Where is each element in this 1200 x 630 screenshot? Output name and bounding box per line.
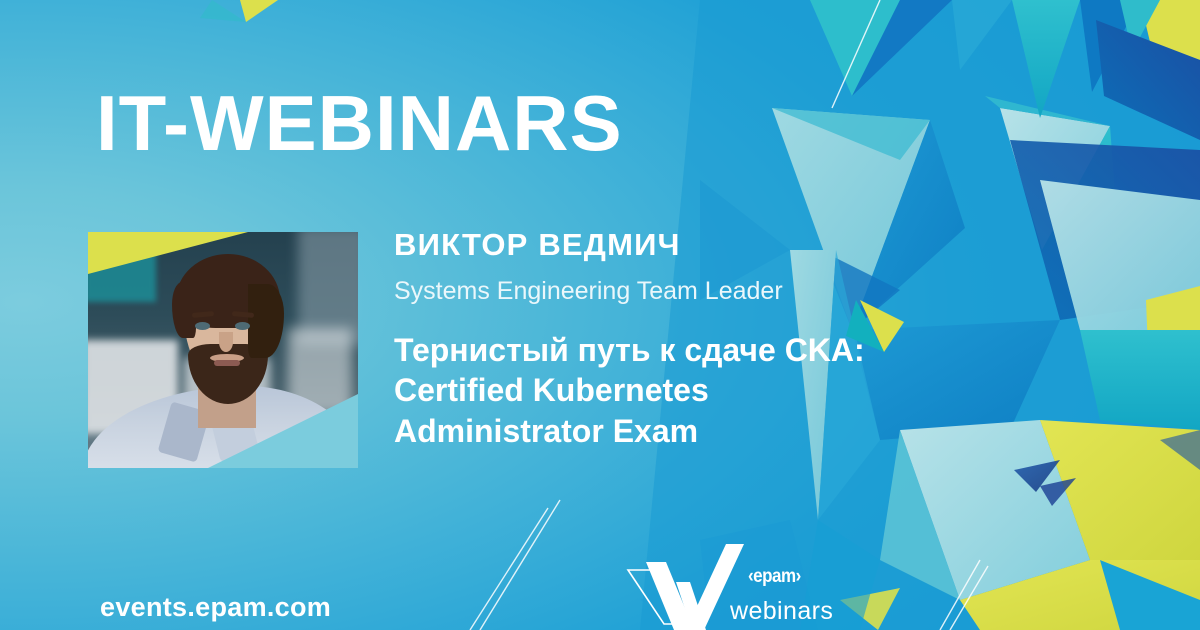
speaker-role: Systems Engineering Team Leader — [394, 277, 783, 306]
photo-mouth — [214, 360, 240, 366]
photo-eye-left — [195, 322, 210, 330]
epam-webinars-logo: ‹epam› webinars — [620, 540, 850, 630]
page-title: IT-WEBINARS — [96, 84, 623, 162]
speaker-photo — [88, 232, 358, 468]
photo-hair-left — [172, 282, 196, 338]
speaker-name: ВИКТОР ВЕДМИЧ — [394, 228, 681, 262]
webinar-promo-banner: IT-WEBINARS ВИКТОР ВЕДМИЧ Systems Engine… — [0, 0, 1200, 630]
photo-nose — [219, 332, 233, 352]
site-url[interactable]: events.epam.com — [100, 592, 331, 623]
photo-eye-right — [235, 322, 250, 330]
talk-title: Тернистый путь к сдаче CKA: Certified Ku… — [394, 330, 874, 451]
logo-subtitle: webinars — [730, 597, 833, 626]
epam-wordmark: ‹epam› — [748, 565, 801, 588]
